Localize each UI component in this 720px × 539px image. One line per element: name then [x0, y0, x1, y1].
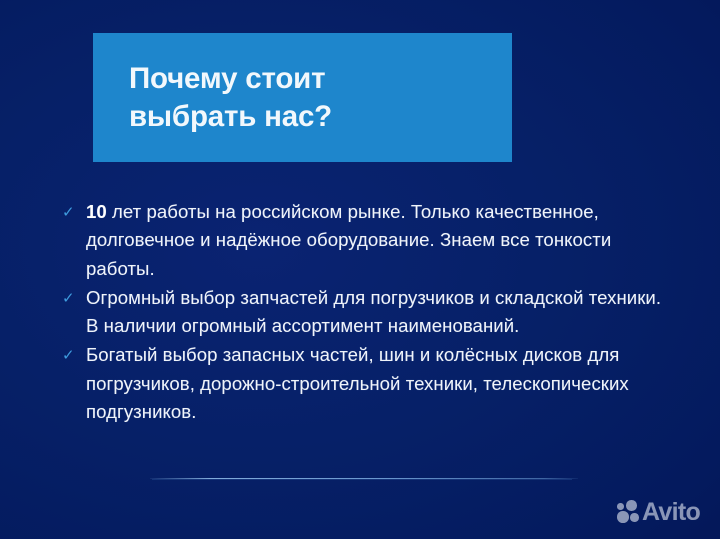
check-icon: ✓ [62, 288, 86, 309]
avito-wordmark: Avito [642, 500, 700, 524]
list-item: ✓ 10 лет работы на российском рынке. Тол… [62, 198, 672, 283]
title-banner: Почему стоит выбрать нас? [93, 33, 512, 162]
check-icon: ✓ [62, 345, 86, 366]
avito-dots-icon [617, 500, 640, 524]
divider [150, 478, 578, 479]
list-item-text: Огромный выбор запчастей для погрузчиков… [86, 284, 672, 341]
list-item: ✓ Богатый выбор запасных частей, шин и к… [62, 341, 672, 426]
list-item-body: Огромный выбор запчастей для погрузчиков… [86, 287, 661, 336]
list-item-lead: 10 [86, 201, 107, 222]
list-item-body: Богатый выбор запасных частей, шин и кол… [86, 344, 629, 422]
check-icon: ✓ [62, 202, 86, 223]
benefits-list: ✓ 10 лет работы на российском рынке. Тол… [62, 198, 672, 427]
page-title: Почему стоит выбрать нас? [129, 60, 502, 136]
avito-watermark: Avito [617, 500, 700, 524]
list-item-text: Богатый выбор запасных частей, шин и кол… [86, 341, 672, 426]
list-item-text: 10 лет работы на российском рынке. Тольк… [86, 198, 672, 283]
list-item-body: лет работы на российском рынке. Только к… [86, 201, 611, 279]
list-item: ✓ Огромный выбор запчастей для погрузчик… [62, 284, 672, 341]
slide-canvas: Почему стоит выбрать нас? ✓ 10 лет работ… [0, 0, 720, 539]
